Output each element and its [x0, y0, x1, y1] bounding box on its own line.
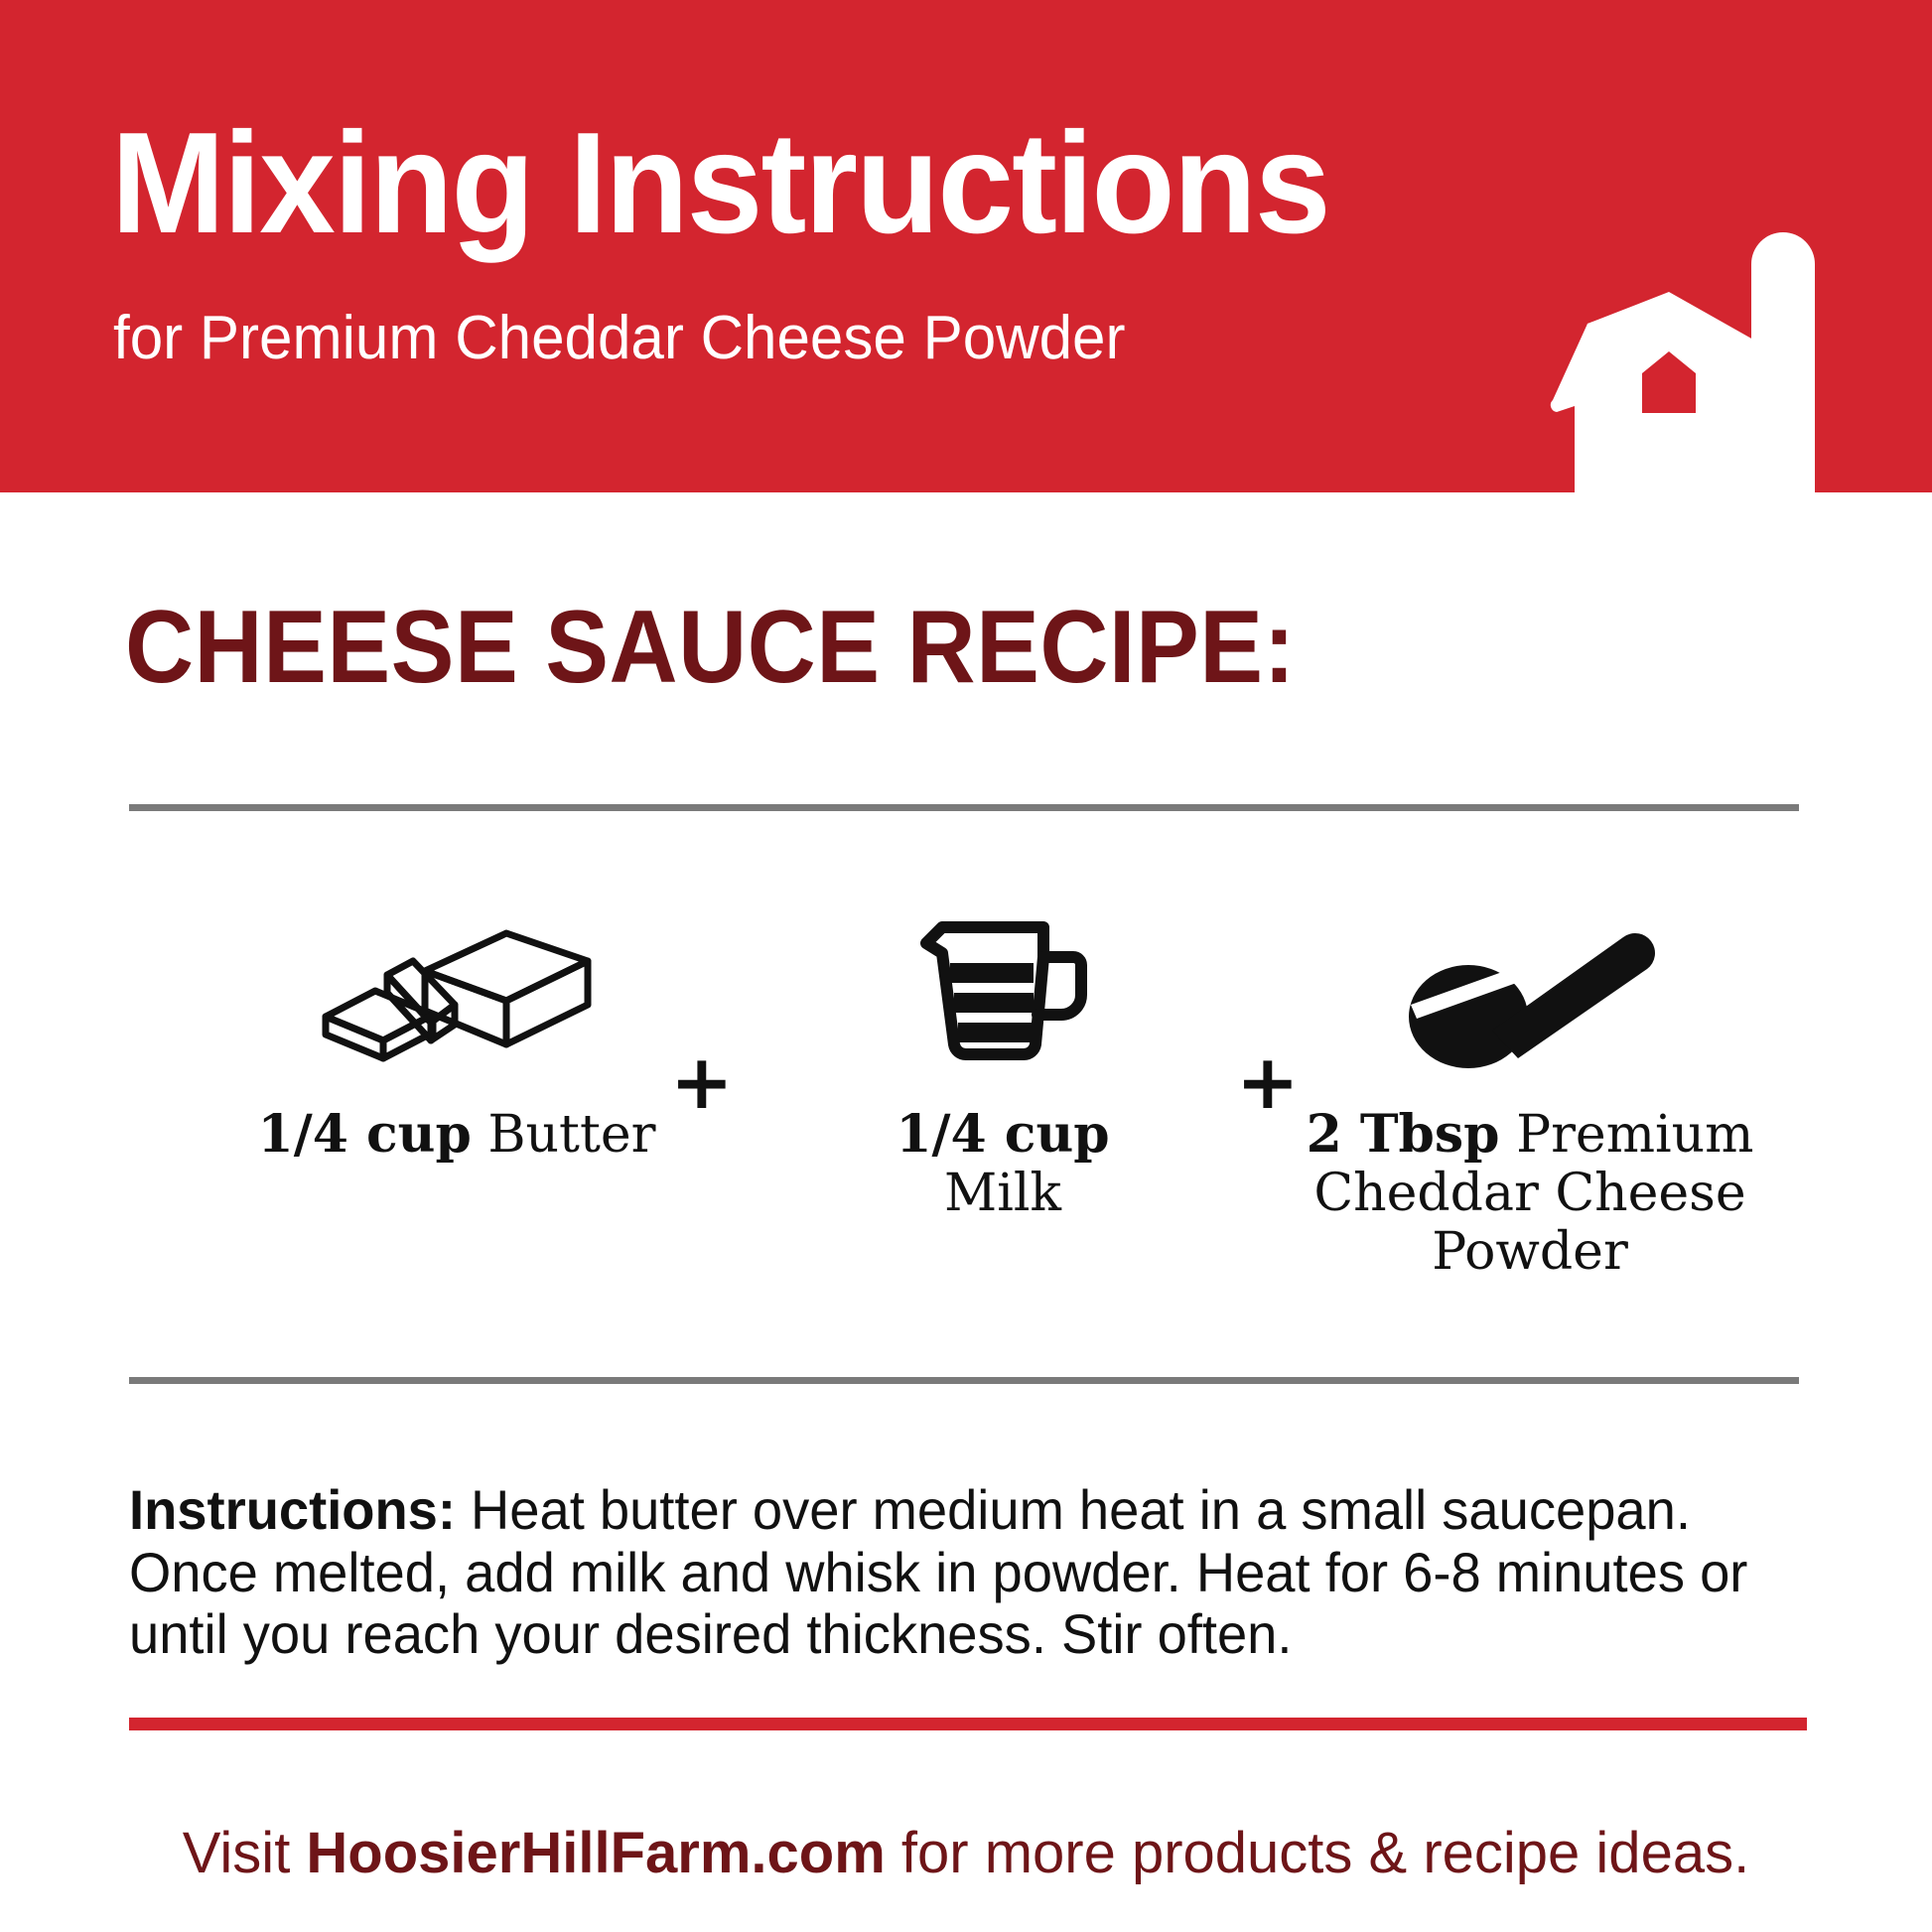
spoon-icon: [1381, 913, 1679, 1072]
recipe-heading: CHEESE SAUCE RECIPE:: [125, 596, 1296, 699]
infographic-page: Mixing Instructions for Premium Cheddar …: [0, 0, 1932, 1932]
footer-suffix: for more products & recipe ideas.: [886, 1821, 1749, 1885]
ingredient-milk: 1/4 cupMilk: [784, 874, 1221, 1223]
measuring-cup-icon: [908, 913, 1097, 1072]
butter-stick-icon: [308, 913, 606, 1072]
plus-operator-1: +: [670, 1044, 734, 1120]
plus-operator-2: +: [1236, 1044, 1300, 1120]
powder-icon-wrap: [1261, 874, 1799, 1072]
barn-silo-icon: [1515, 165, 1932, 492]
ingredient-milk-name: Milk: [944, 1164, 1061, 1223]
ingredient-powder: 2 Tbsp Premium Cheddar Cheese Powder: [1261, 874, 1799, 1281]
ingredients-row: 1/4 cup Butter: [129, 874, 1799, 1350]
divider-footer-red: [129, 1718, 1807, 1730]
ingredient-milk-label: 1/4 cupMilk: [784, 1106, 1221, 1223]
ingredient-powder-quantity: 2 Tbsp: [1307, 1104, 1500, 1165]
page-subtitle: for Premium Cheddar Cheese Powder: [113, 308, 1126, 369]
instructions-label: Instructions:: [129, 1478, 456, 1541]
ingredient-powder-label: 2 Tbsp Premium Cheddar Cheese Powder: [1261, 1106, 1799, 1281]
ingredient-butter-name: Butter: [487, 1105, 655, 1165]
ingredient-milk-quantity: 1/4 cup: [896, 1104, 1109, 1165]
footer-line: Visit HoosierHillFarm.com for more produ…: [0, 1825, 1932, 1882]
divider-bottom: [129, 1377, 1799, 1384]
header-banner: Mixing Instructions for Premium Cheddar …: [0, 0, 1932, 492]
instructions-paragraph: Instructions: Heat butter over medium he…: [129, 1479, 1766, 1666]
divider-top: [129, 804, 1799, 811]
page-title: Mixing Instructions: [111, 111, 1329, 255]
footer-website-link[interactable]: HoosierHillFarm.com: [306, 1821, 885, 1885]
ingredient-butter-quantity: 1/4 cup: [258, 1104, 472, 1165]
milk-icon-wrap: [784, 874, 1221, 1072]
footer-prefix: Visit: [183, 1821, 307, 1885]
